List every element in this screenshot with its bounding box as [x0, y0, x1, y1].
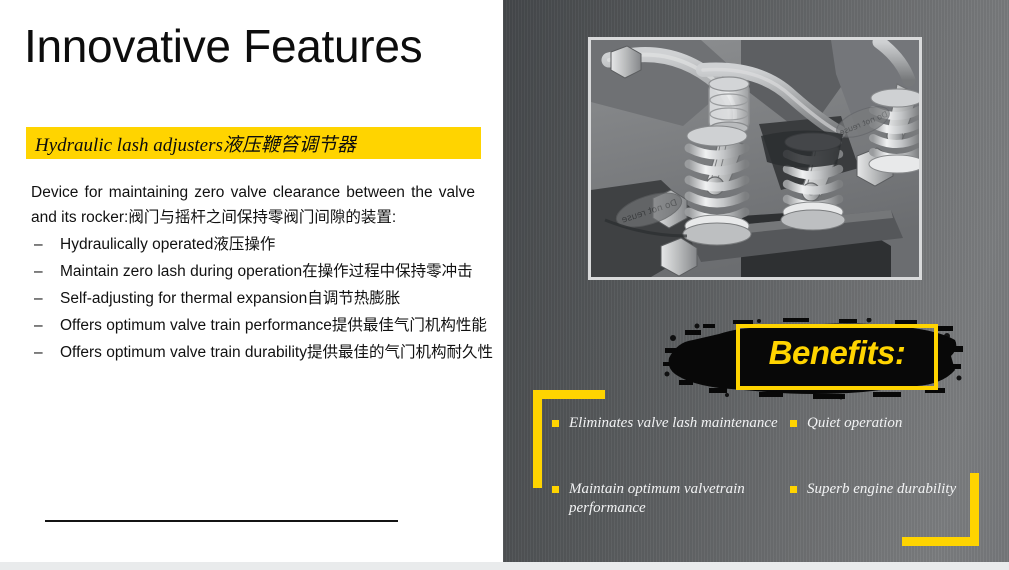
list-item: – Hydraulically operated液压操作 [31, 232, 501, 257]
benefit-item: Quiet operation [788, 414, 970, 480]
list-item: – Self-adjusting for thermal expansion自调… [31, 286, 501, 311]
dash-bullet-icon: – [34, 259, 43, 284]
benefit-item: Superb engine durability [788, 480, 970, 546]
square-bullet-icon [790, 486, 797, 493]
square-bullet-icon [552, 420, 559, 427]
benefit-item-label: Eliminates valve lash maintenance [569, 415, 778, 431]
lead-paragraph: Device for maintaining zero valve cleara… [31, 180, 475, 230]
page-title: Innovative Features [24, 20, 464, 72]
benefit-item-label: Maintain optimum valvetrain performance [569, 481, 745, 516]
engine-valvetrain-image: Do not reuse Do not reuse [588, 37, 922, 280]
benefits-heading: Benefits: [742, 336, 932, 370]
subtitle-highlight-bar: Hydraulic lash adjusters液压鞭笞调节器 [26, 127, 481, 159]
horizontal-rule [45, 520, 398, 522]
body-text-block: Device for maintaining zero valve cleara… [31, 180, 501, 367]
list-item-label: Self-adjusting for thermal expansion自调节热… [60, 290, 400, 307]
slide-canvas: Innovative Features Hydraulic lash adjus… [0, 0, 1009, 570]
square-bullet-icon [552, 486, 559, 493]
bottom-edge-strip [0, 562, 1009, 570]
benefit-item-label: Superb engine durability [807, 481, 956, 497]
list-item: – Offers optimum valve train performance… [31, 313, 501, 338]
list-item-label: Hydraulically operated液压操作 [60, 236, 275, 253]
corner-bracket-top-left-horizontal [533, 390, 605, 399]
list-item-label: Offers optimum valve train durability提供最… [60, 344, 493, 361]
left-content-panel: Innovative Features Hydraulic lash adjus… [0, 0, 503, 562]
square-bullet-icon [790, 420, 797, 427]
list-item: – Maintain zero lash during operation在操作… [31, 259, 501, 284]
corner-bracket-top-left-vertical [533, 390, 542, 488]
subtitle-text: Hydraulic lash adjusters液压鞭笞调节器 [26, 130, 356, 157]
list-item: – Offers optimum valve train durability提… [31, 340, 501, 365]
benefit-item: Maintain optimum valvetrain performance [550, 480, 788, 546]
benefit-item: Eliminates valve lash maintenance [550, 414, 788, 480]
dash-bullet-icon: – [34, 286, 43, 311]
dash-bullet-icon: – [34, 313, 43, 338]
list-item-label: Maintain zero lash during operation在操作过程… [60, 263, 473, 280]
benefits-grid: Eliminates valve lash maintenance Quiet … [550, 414, 970, 546]
list-item-label: Offers optimum valve train performance提供… [60, 317, 487, 334]
dash-bullet-icon: – [34, 232, 43, 257]
feature-list: – Hydraulically operated液压操作 – Maintain … [31, 232, 501, 365]
corner-bracket-bottom-right-vertical [970, 473, 979, 546]
dash-bullet-icon: – [34, 340, 43, 365]
benefit-item-label: Quiet operation [807, 415, 902, 431]
